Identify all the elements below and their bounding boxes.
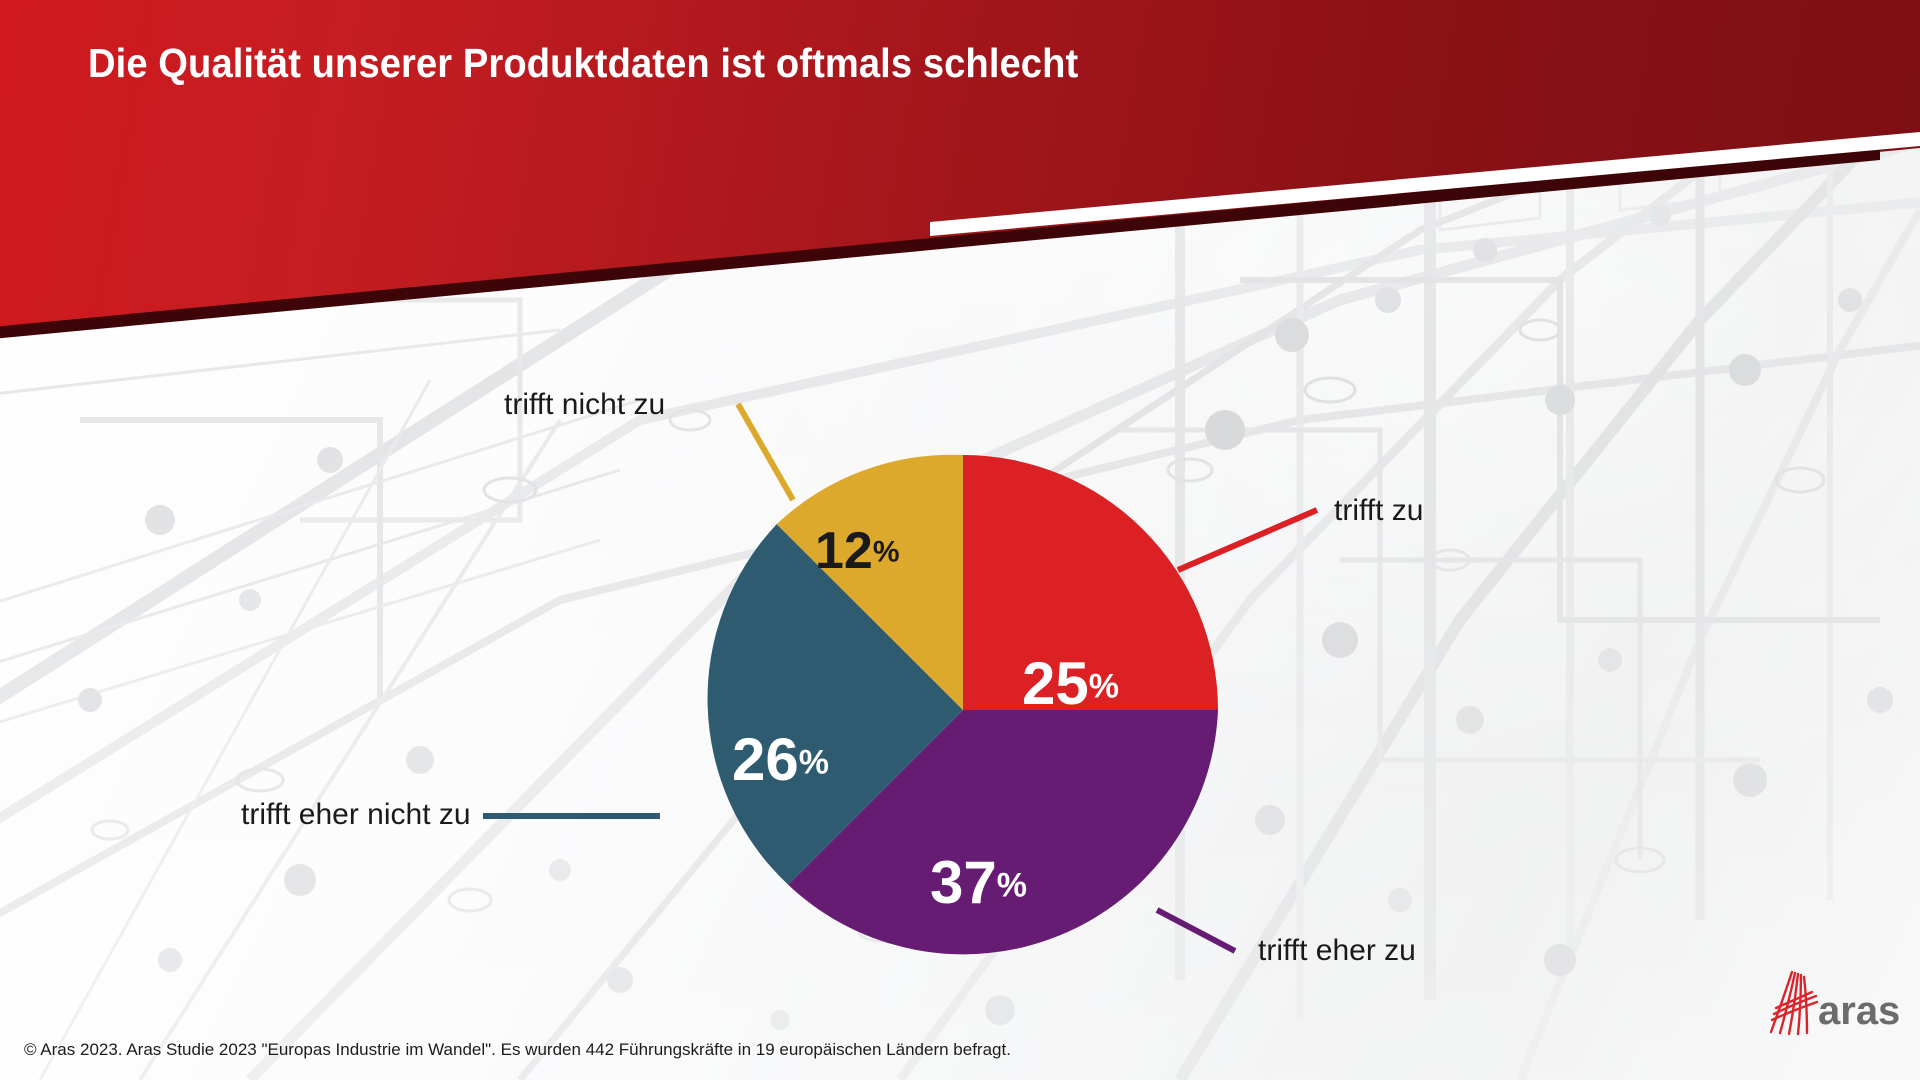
pie-chart: 25% 37% 26% 12% bbox=[700, 447, 1226, 973]
page-title: Die Qualität unserer Produktdaten ist of… bbox=[88, 40, 1078, 87]
callout-label-trifft-eher-nicht-zu: trifft eher nicht zu bbox=[241, 800, 471, 830]
pie-value-trifft-nicht-zu: 12% bbox=[815, 525, 900, 577]
footer-source-note: © Aras 2023. Aras Studie 2023 "Europas I… bbox=[24, 1040, 1011, 1060]
callout-label-trifft-eher-zu: trifft eher zu bbox=[1258, 936, 1416, 966]
pie-value-trifft-zu: 25% bbox=[1022, 654, 1119, 714]
aras-a-mark-icon bbox=[1771, 972, 1817, 1034]
pie-value-trifft-eher-nicht-zu: 26% bbox=[732, 730, 829, 790]
aras-wordmark-text: aras bbox=[1818, 989, 1900, 1033]
infographic-slide: Die Qualität unserer Produktdaten ist of… bbox=[0, 0, 1920, 1080]
aras-logo[interactable]: aras bbox=[1762, 966, 1904, 1038]
aras-logo-svg: aras bbox=[1762, 966, 1904, 1038]
pie-value-trifft-eher-zu: 37% bbox=[930, 853, 1027, 913]
callout-label-trifft-zu: trifft zu bbox=[1334, 496, 1423, 526]
aras-wordmark: aras bbox=[1818, 989, 1900, 1033]
callout-label-trifft-nicht-zu: trifft nicht zu bbox=[504, 390, 665, 420]
